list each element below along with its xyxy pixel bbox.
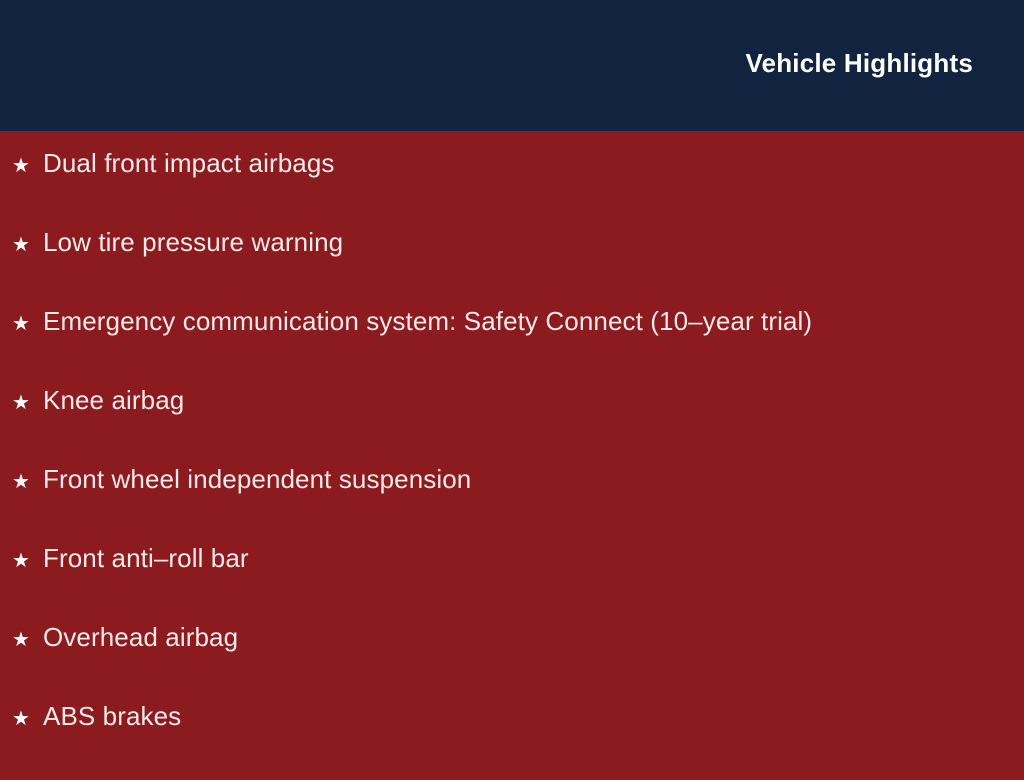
star-icon: ★ [12,704,43,734]
list-item-label: Emergency communication system: Safety C… [43,306,1024,336]
slide-header: Vehicle Highlights [0,0,1024,131]
list-item: ★ Front anti–roll bar [0,543,1024,622]
star-icon: ★ [12,467,43,497]
list-item: ★ Dual front impact airbags [0,148,1024,227]
list-item: ★ Low tire pressure warning [0,227,1024,306]
list-item-label: Low tire pressure warning [43,227,1024,257]
list-item-label: Front anti–roll bar [43,543,1024,573]
list-item: ★ Front wheel independent suspension [0,464,1024,543]
star-icon: ★ [12,625,43,655]
list-item-label: Overhead airbag [43,622,1024,652]
star-icon: ★ [12,230,43,260]
list-item-label: Front wheel independent suspension [43,464,1024,494]
list-item-label: ABS brakes [43,701,1024,731]
slide-body: ★ Dual front impact airbags ★ Low tire p… [0,131,1024,768]
list-item: ★ Emergency communication system: Safety… [0,306,1024,385]
star-icon: ★ [12,546,43,576]
star-icon: ★ [12,151,43,181]
star-icon: ★ [12,388,43,418]
list-item: ★ Knee airbag [0,385,1024,464]
star-icon: ★ [12,309,43,339]
list-item: ★ Overhead airbag [0,622,1024,701]
slide: Vehicle Highlights ★ Dual front impact a… [0,0,1024,768]
page-title: Vehicle Highlights [745,46,973,80]
list-item-label: Knee airbag [43,385,1024,415]
list-item: ★ ABS brakes [0,701,1024,780]
vehicle-highlights-list: ★ Dual front impact airbags ★ Low tire p… [0,148,1024,780]
list-item-label: Dual front impact airbags [43,148,1024,178]
